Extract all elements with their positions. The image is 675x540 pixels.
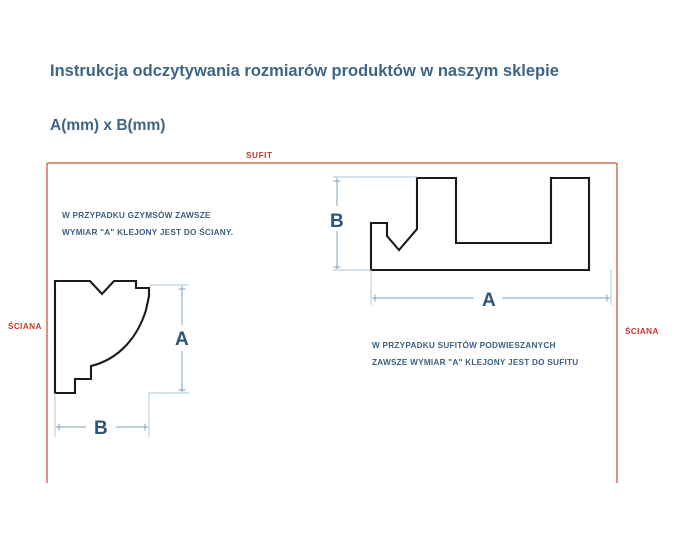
note-right: W PRZYPADKU SUFITÓW PODWIESZANYCH ZAWSZE… — [372, 339, 578, 367]
technical-diagram: Instrukcja odczytywania rozmiarów produk… — [0, 0, 675, 540]
note-left-line-1: W PRZYPADKU GZYMSÓW ZAWSZE — [62, 209, 211, 220]
right-cornice-profile — [371, 178, 589, 270]
page-subtitle: A(mm) x B(mm) — [50, 117, 165, 134]
dimension-left-vertical: A — [149, 285, 189, 393]
dimension-label-right-horizontal: A — [482, 290, 496, 311]
note-right-line-1: W PRZYPADKU SUFITÓW PODWIESZANYCH — [372, 339, 556, 350]
note-left: W PRZYPADKU GZYMSÓW ZAWSZE WYMIAR "A" KL… — [62, 209, 233, 237]
right-profile-outline — [371, 178, 589, 270]
note-left-line-2: WYMIAR "A" KLEJONY JEST DO ŚCIANY. — [62, 226, 233, 237]
ceiling-label: SUFIT — [246, 151, 273, 160]
dimension-label-right-vertical: B — [330, 211, 344, 232]
note-right-line-2: ZAWSZE WYMIAR "A" KLEJONY JEST DO SUFITU — [372, 358, 578, 367]
left-cornice-profile — [55, 281, 149, 393]
diagram-page: Instrukcja odczytywania rozmiarów produk… — [0, 0, 675, 540]
left-profile-outline — [55, 281, 149, 393]
dimension-left-horizontal: B — [55, 393, 149, 439]
dimension-label-left-vertical: A — [175, 329, 189, 350]
dimension-right-horizontal: A — [371, 270, 611, 311]
wall-label-right: ŚCIANA — [625, 325, 659, 336]
page-title: Instrukcja odczytywania rozmiarów produk… — [50, 62, 559, 80]
dimension-label-left-horizontal: B — [94, 418, 108, 439]
wall-label-left: ŚCIANA — [8, 320, 42, 331]
